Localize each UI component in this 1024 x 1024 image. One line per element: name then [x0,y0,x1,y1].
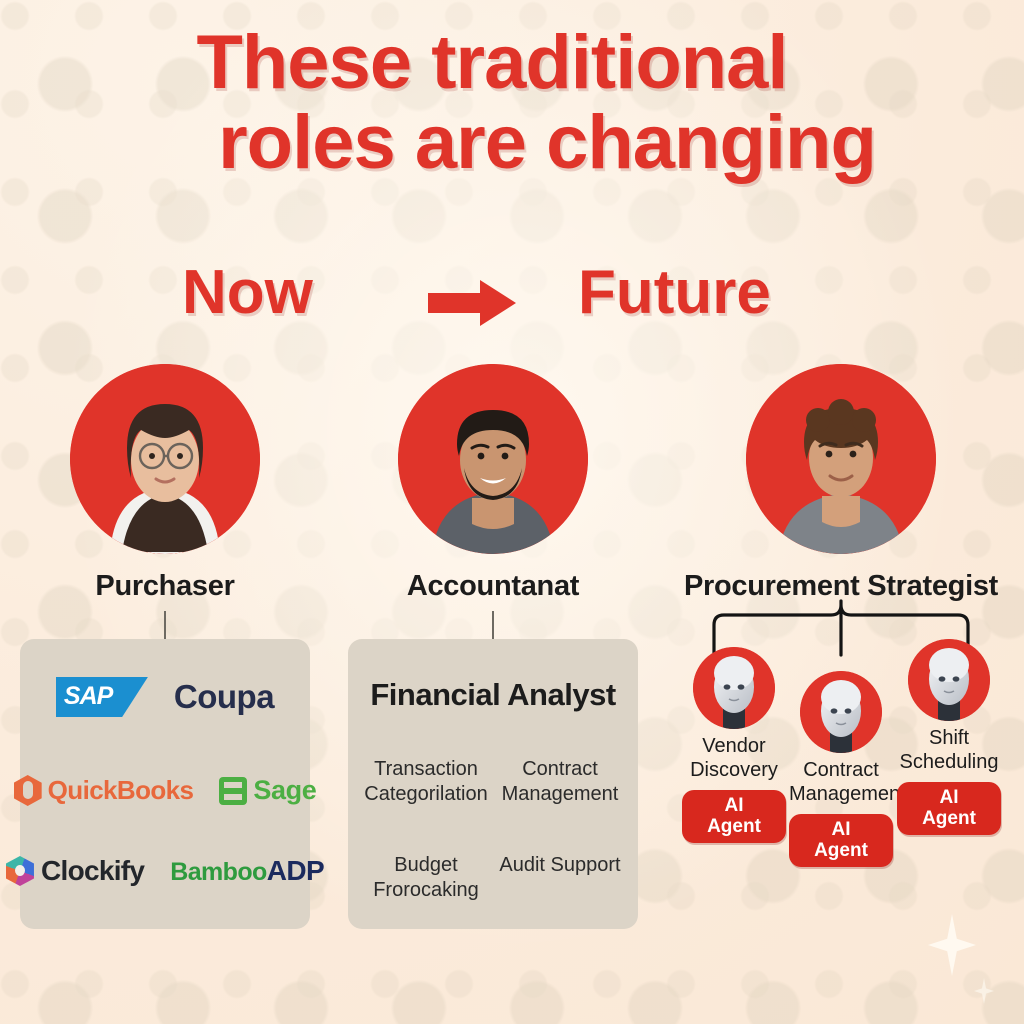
quickbooks-logo-text: QuickBooks [48,775,194,806]
ai-agent-card[interactable]: Contract Management AI Agent [789,671,893,867]
timeline-header: Now Future [0,262,1024,342]
ai-agent-card[interactable]: Vendor Discovery AI Agent [682,647,786,843]
task-item: Transaction Categorilation [362,757,490,807]
column-accountant: Accountanat Financial Analyst Transactio… [348,364,638,929]
headline-line-1: These traditional [0,26,1024,100]
task-item: Audit Support [496,853,624,903]
sage-mark-icon [219,777,247,805]
clockify-logo-text: Clockify [41,855,144,887]
role-label: Accountanat [348,570,638,603]
adp-logo-text: ADP [267,855,324,886]
logo-row-3: Clockify BambooADP [20,855,310,887]
purchaser-photo [70,364,260,554]
ai-agent-name: Vendor Discovery [682,735,786,782]
clockify-logo: Clockify [6,855,144,887]
avatar [398,364,588,554]
role-label: Purchaser [20,570,310,603]
infographic-canvas: These traditional roles are changing Now… [0,0,1024,1024]
ai-agent-name: Contract Management [789,759,893,806]
sap-logo-text: SAP [64,682,112,711]
quickbooks-logo: QuickBooks [14,775,194,806]
ai-agents-group: Vendor Discovery AI Agent [676,603,1006,893]
bamboo-logo-text: Bamboo [170,858,266,886]
task-item: Budget Frorocaking [362,853,490,903]
robot-head-icon [800,671,882,753]
arrow-right-icon [428,280,516,326]
robot-head-icon [908,639,990,721]
avatar [70,364,260,554]
ai-agent-card[interactable]: Shift Scheduling AI Agent [897,639,1001,835]
tasks-panel: Financial Analyst Transaction Categorila… [348,639,638,929]
clockify-mark-icon [6,856,34,886]
robot-head-icon [693,647,775,729]
ai-agent-name: Shift Scheduling [897,727,1001,774]
avatar [746,364,936,554]
ai-agent-badge: AI Agent [789,814,893,867]
tasks-panel-title: Financial Analyst [348,677,638,713]
ai-agent-badge: AI Agent [897,782,1001,835]
accountant-photo [398,364,588,554]
future-label: Future [578,262,771,324]
bambooadp-logo: BambooADP [170,855,324,887]
strategist-photo [746,364,936,554]
connector-line [164,611,166,639]
sap-logo: SAP [56,677,148,717]
page-title: These traditional roles are changing [0,26,1024,181]
sage-logo-text: Sage [253,775,316,806]
logo-row-1: SAP Coupa [20,677,310,717]
connector-line [492,611,494,639]
ai-agent-badge: AI Agent [682,790,786,843]
sage-logo: Sage [219,775,316,806]
task-item: Contract Management [496,757,624,807]
tasks-grid: Transaction Categorilation Contract Mana… [362,757,624,903]
now-label: Now [182,262,313,324]
column-purchaser: Purchaser SAP Coupa QuickBooks Sage [20,364,310,929]
column-procurement-strategist: Procurement Strategist [676,364,1006,893]
headline-line-2: roles are changing [0,106,1024,180]
logo-row-2: QuickBooks Sage [20,775,310,806]
quickbooks-mark-icon [14,775,42,806]
logos-panel: SAP Coupa QuickBooks Sage Clockify [20,639,310,929]
coupa-logo: Coupa [174,678,274,716]
